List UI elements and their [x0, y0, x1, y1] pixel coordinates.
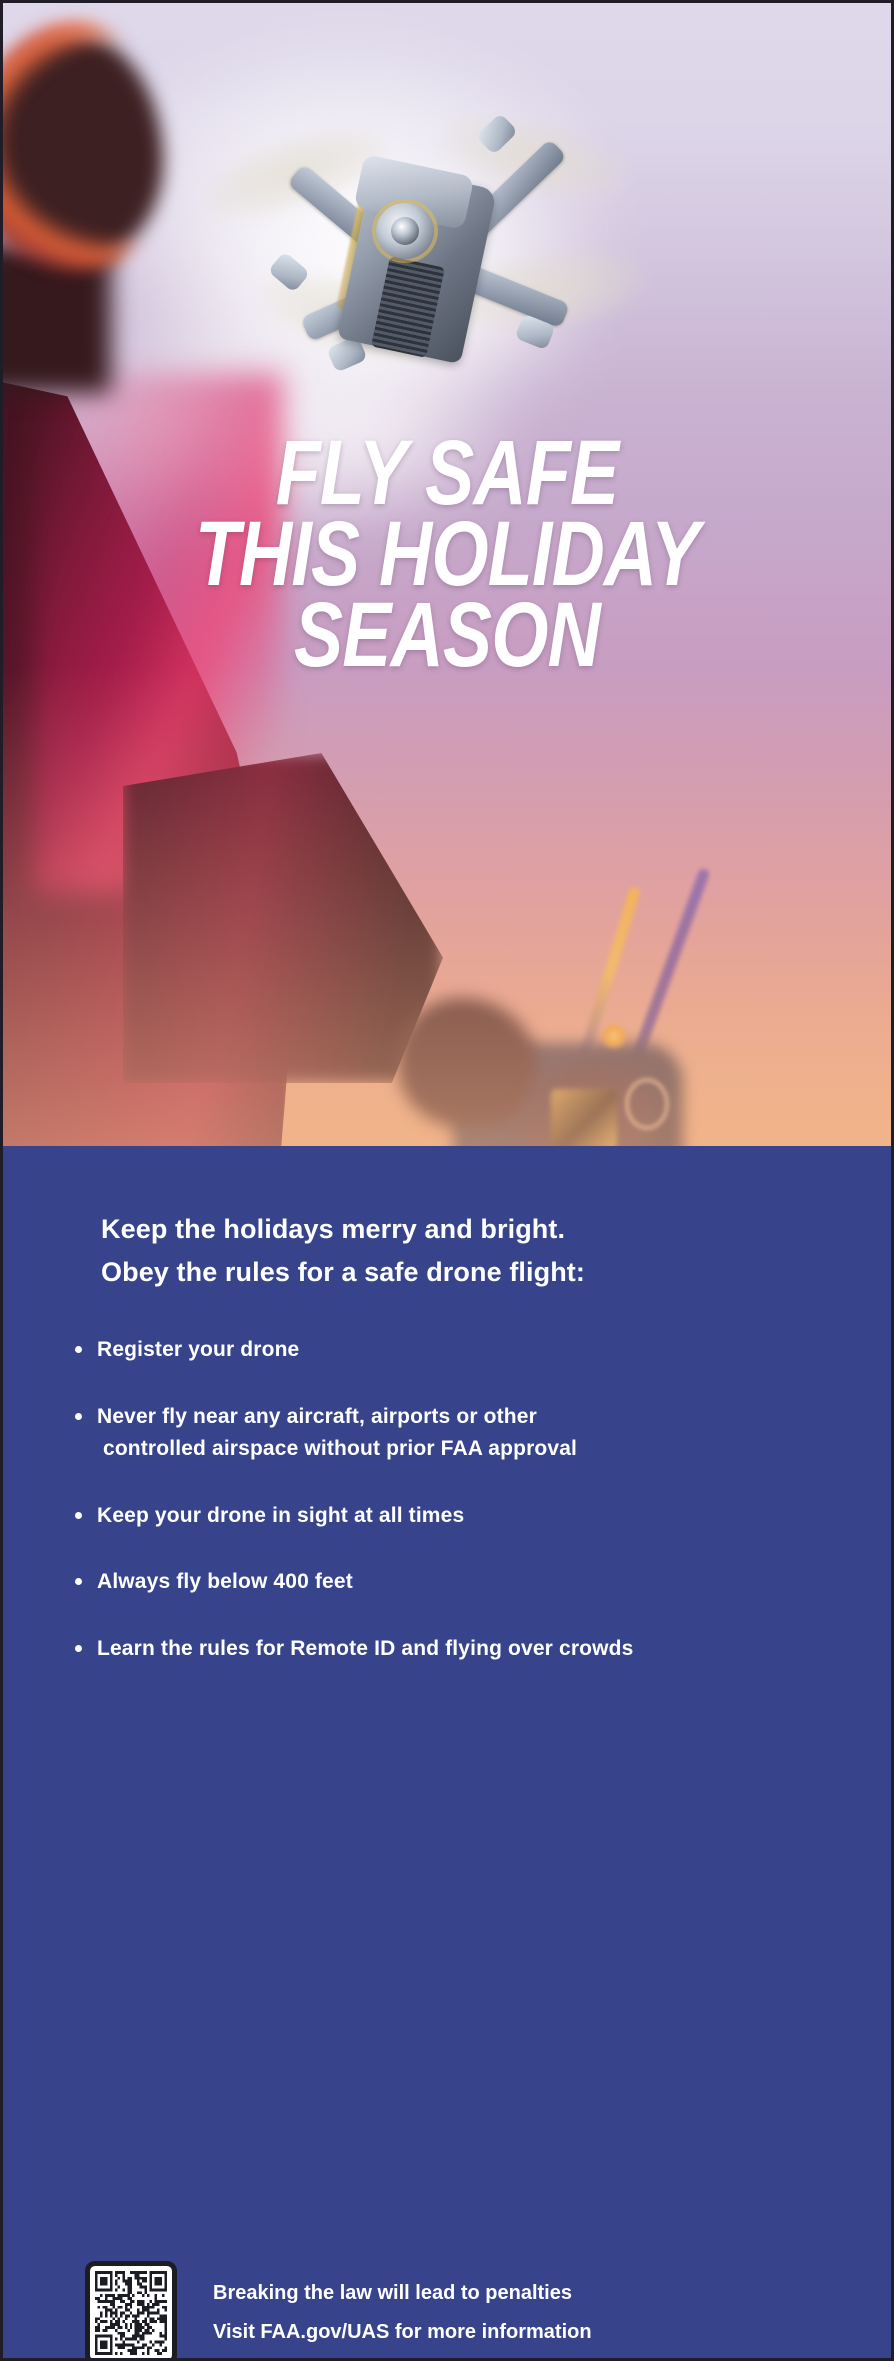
headline-line-3: SEASON — [92, 595, 802, 676]
rule-text-continued: controlled airspace without prior FAA ap… — [97, 1433, 869, 1466]
qr-caption: Breaking the law will lead to penalties … — [213, 2274, 592, 2352]
drone-camera-lens-icon — [391, 217, 419, 245]
rule-text: Register your drone — [97, 1338, 299, 1361]
qr-code[interactable] — [85, 2261, 177, 2361]
list-item: Always fly below 400 feet — [69, 1566, 869, 1599]
qr-caption-line-2: Visit FAA.gov/UAS for more information — [213, 2313, 592, 2352]
rule-text: Learn the rules for Remote ID and flying… — [97, 1637, 633, 1660]
rule-text: Always fly below 400 feet — [97, 1570, 353, 1593]
bullet-icon — [75, 1512, 82, 1519]
lede-line-2: Obey the rules for a safe drone flight: — [101, 1251, 831, 1294]
bullet-icon — [75, 1578, 82, 1585]
qr-caption-line-1: Breaking the law will lead to penalties — [213, 2274, 592, 2313]
info-panel: Keep the holidays merry and bright. Obey… — [3, 1146, 891, 2358]
quadcopter-drone — [188, 83, 658, 413]
rules-list: Register your drone Never fly near any a… — [69, 1334, 869, 1699]
hero-photo: FLY SAFE THIS HOLIDAY SEASON — [3, 3, 891, 1146]
pilot-head-rim-light — [3, 21, 171, 271]
bullet-icon — [75, 1645, 82, 1652]
list-item: Learn the rules for Remote ID and flying… — [69, 1633, 869, 1666]
rule-text: Never fly near any aircraft, airports or… — [97, 1405, 537, 1428]
lede-text: Keep the holidays merry and bright. Obey… — [101, 1208, 831, 1293]
qr-section: Breaking the law will lead to penalties … — [85, 2261, 845, 2361]
sunset-warm-overlay — [3, 666, 891, 1146]
bullet-icon — [75, 1413, 82, 1420]
list-item: Register your drone — [69, 1334, 869, 1367]
headline-line-1: FLY SAFE — [92, 433, 802, 514]
drone-safety-poster: FLY SAFE THIS HOLIDAY SEASON Keep the ho… — [0, 0, 894, 2361]
bullet-icon — [75, 1346, 82, 1353]
headline-line-2: THIS HOLIDAY — [92, 514, 802, 595]
qr-code-image — [95, 2271, 167, 2355]
list-item: Never fly near any aircraft, airports or… — [69, 1401, 869, 1466]
list-item: Keep your drone in sight at all times — [69, 1500, 869, 1533]
page-title: FLY SAFE THIS HOLIDAY SEASON — [3, 433, 891, 676]
lede-line-1: Keep the holidays merry and bright. — [101, 1208, 831, 1251]
rule-text: Keep your drone in sight at all times — [97, 1504, 464, 1527]
